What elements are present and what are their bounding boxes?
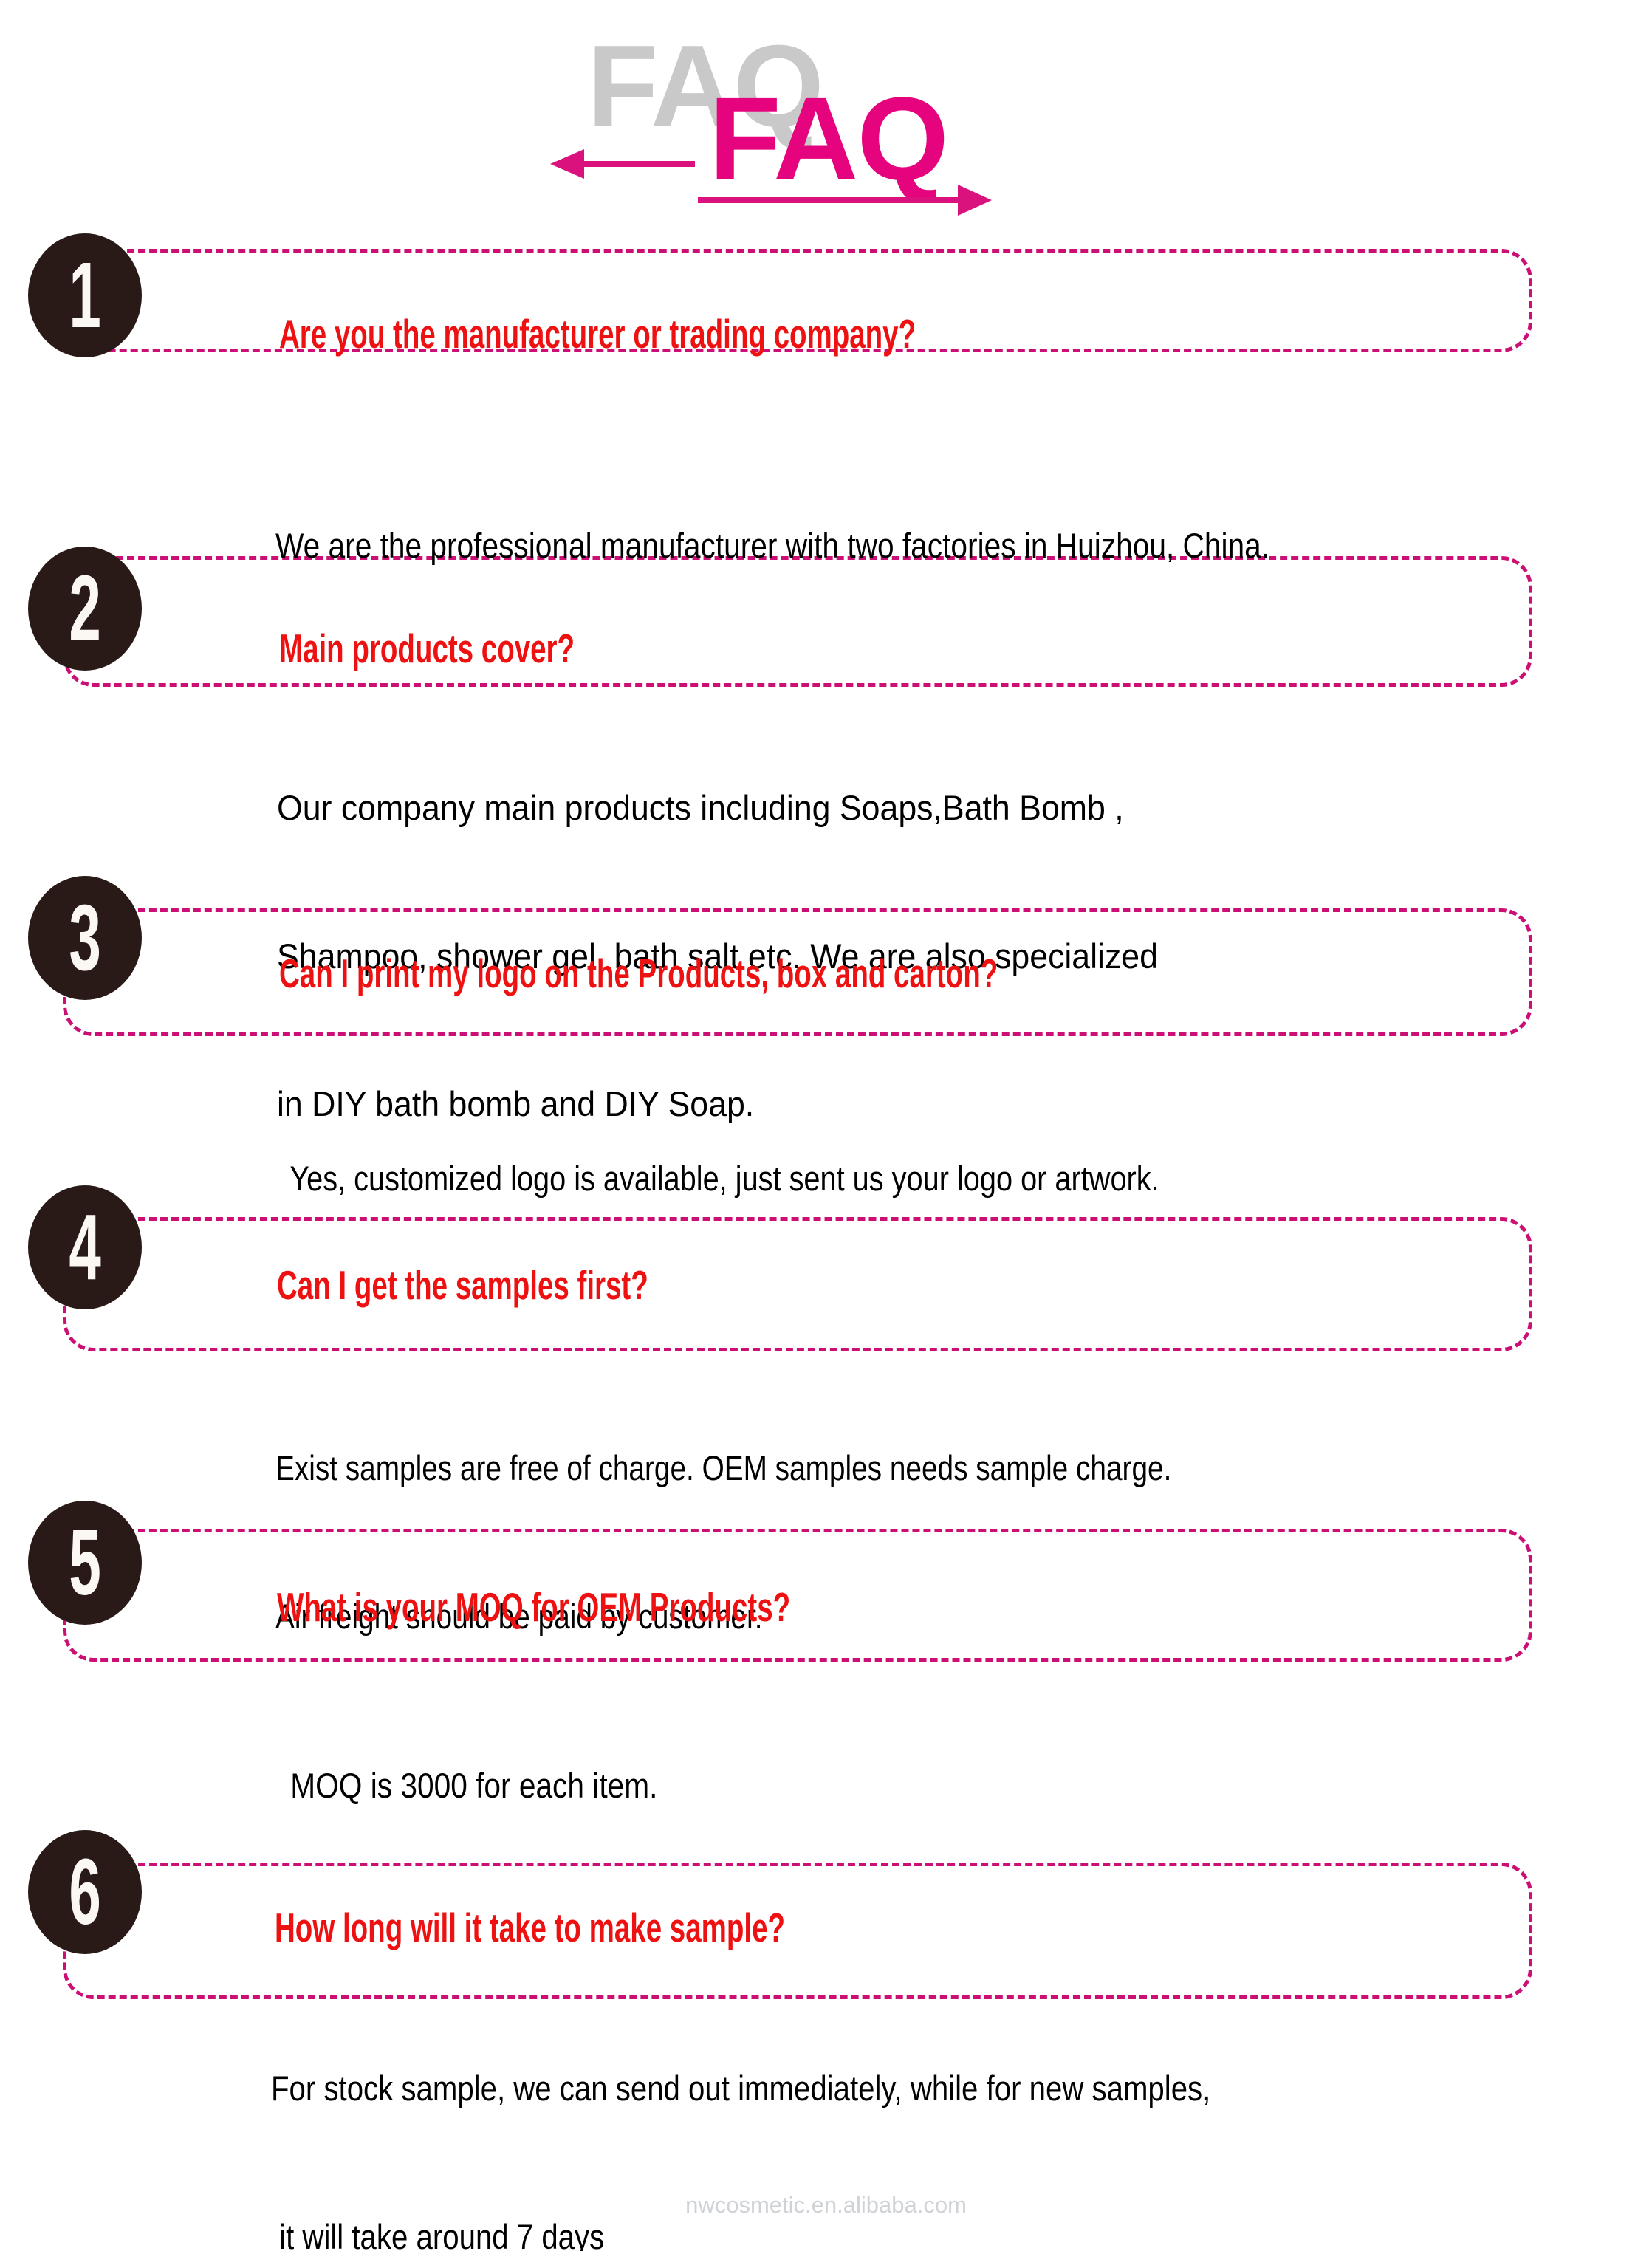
- faq-answer-line: For stock sample, we can send out immedi…: [271, 2064, 1210, 2114]
- faq-badge-4: 4: [28, 1185, 142, 1309]
- faq-answer-6: For stock sample, we can send out immedi…: [271, 1966, 1210, 2251]
- faq-question-4: Can I get the samples first?: [277, 1264, 648, 1307]
- faq-badge-number-1: 1: [69, 249, 100, 342]
- faq-question-3: Can I print my logo on the Products, box…: [279, 953, 998, 996]
- arrow-left-icon: [550, 149, 695, 179]
- arrow-right-icon: [698, 183, 992, 217]
- faq-badge-5: 5: [28, 1501, 142, 1625]
- page-header: FAQ FAQ: [0, 0, 1652, 236]
- faq-badge-number-5: 5: [69, 1516, 100, 1609]
- faq-badge-number-2: 2: [69, 562, 100, 655]
- faq-badge-number-6: 6: [69, 1846, 100, 1939]
- faq-answer-line: MOQ is 3000 for each item.: [282, 1761, 657, 1811]
- faq-question-2: Main products cover?: [279, 628, 575, 671]
- faq-badge-1: 1: [28, 233, 142, 357]
- faq-badge-6: 6: [28, 1830, 142, 1954]
- faq-answer-line: We are the professional manufacturer wit…: [275, 521, 1269, 571]
- faq-title-main: FAQ: [709, 80, 947, 198]
- faq-answer-line: it will take around 7 days: [271, 2213, 1210, 2251]
- faq-answer-line: Yes, customized logo is available, just …: [282, 1154, 1159, 1204]
- faq-page: FAQ FAQ 1 Are you the manufacturer or tr…: [0, 0, 1652, 2251]
- faq-badge-3: 3: [28, 876, 142, 1000]
- faq-badge-number-4: 4: [69, 1201, 100, 1294]
- faq-badge-number-3: 3: [69, 891, 100, 984]
- faq-question-5: What is your MOQ for OEM Products?: [277, 1586, 790, 1629]
- faq-answer-line: Exist samples are free of charge. OEM sa…: [275, 1444, 1171, 1493]
- faq-answer-5: MOQ is 3000 for each item.: [282, 1663, 657, 1910]
- faq-badge-2: 2: [28, 547, 142, 671]
- faq-question-1: Are you the manufacturer or trading comp…: [279, 313, 916, 356]
- faq-answer-line: Our company main products including Soap…: [277, 784, 1158, 833]
- faq-question-6: How long will it take to make sample?: [275, 1907, 785, 1950]
